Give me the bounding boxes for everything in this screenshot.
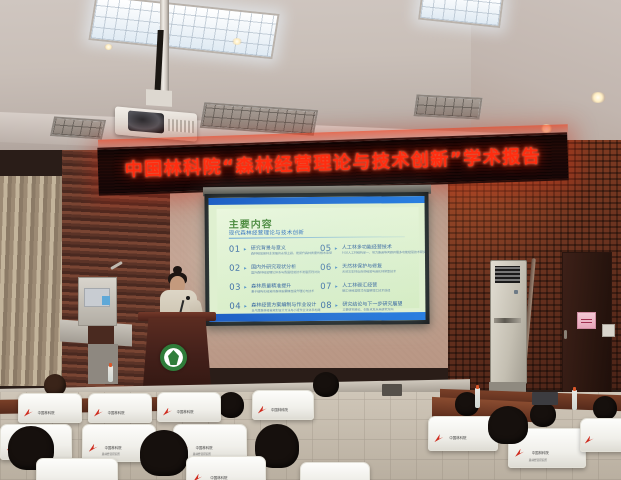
chair-cover-subtext: 森林经营研究所 xyxy=(529,458,547,462)
av-rack-label xyxy=(102,296,110,305)
slide-column-left: 01 ▸ 研究背景与意义 森林经营是林业发展的永恒主题，是提升森林质量的根本途径… xyxy=(229,244,325,321)
slide-item: 07 ▸ 人工林碳汇经营 碳汇林经营模式与固碳增汇技术途径 xyxy=(320,281,415,301)
water-bottle xyxy=(572,390,577,410)
chair-cover-text: 中国林科院 xyxy=(196,445,213,450)
chevron-right-icon: ▸ xyxy=(335,265,338,271)
chair-cover-text: 中国林科院 xyxy=(38,410,55,415)
projection-screen: 主要内容 现代森林经营理论与技术创新 01 ▸ 研究背景与意义 森林经营是林业发… xyxy=(204,192,429,326)
water-bottle xyxy=(475,388,480,408)
slide-item: 05 ▸ 人工林多功能经营技术 针对人工林结构单一、地力衰退等问题开展多功能经营… xyxy=(320,243,415,263)
chair-cover: 中国林科院 xyxy=(18,393,82,423)
laptop xyxy=(382,384,402,396)
av-cart-leg xyxy=(88,344,118,384)
chevron-right-icon: ▸ xyxy=(244,247,247,253)
projector-bracket xyxy=(146,89,172,107)
red-arrow-logo-icon xyxy=(585,436,594,444)
laptop xyxy=(532,392,558,405)
projector-lens xyxy=(128,110,164,133)
audience-head xyxy=(593,396,617,420)
downlight-icon xyxy=(590,92,606,103)
chair-cover-text: 中国林科院 xyxy=(532,450,549,455)
chair-cover: 中国林科院 xyxy=(252,390,314,420)
slide-item-number: 04 xyxy=(229,302,241,312)
slide-body: 主要内容 现代森林经营理论与技术创新 01 ▸ 研究背景与意义 森林经营是林业发… xyxy=(217,207,420,310)
projector-vent xyxy=(168,119,194,133)
led-banner-text: 中国林科院“森林经营理论与技术创新”学术报告 xyxy=(98,141,569,183)
red-arrow-logo-icon xyxy=(24,409,33,417)
chevron-right-icon: ▸ xyxy=(335,246,338,252)
slide-item-number: 03 xyxy=(229,283,241,293)
slide-item-number: 06 xyxy=(320,263,332,273)
red-arrow-logo-icon xyxy=(193,474,202,480)
downlight-icon xyxy=(232,38,242,45)
slide-item-description: 碳汇林经营模式与固碳增汇技术途径 xyxy=(342,288,425,293)
slide-item-number: 01 xyxy=(229,245,241,255)
chair-cover-subtext: 森林经营研究所 xyxy=(102,452,120,456)
chevron-right-icon: ▸ xyxy=(335,303,338,309)
chevron-right-icon: ▸ xyxy=(244,266,247,272)
red-arrow-logo-icon xyxy=(515,449,524,457)
ac-vent-grille xyxy=(495,266,520,283)
slide-item-number: 02 xyxy=(229,264,241,274)
chair-cover-text: 中国林科院 xyxy=(105,445,122,450)
red-arrow-logo-icon xyxy=(89,444,98,452)
chair-cover-text: 中国林科院 xyxy=(177,409,194,414)
slide-subtitle: 现代森林经营理论与技术创新 xyxy=(229,228,304,237)
audience-head xyxy=(313,372,339,397)
audience-head xyxy=(218,392,244,418)
red-arrow-logo-icon xyxy=(94,409,103,417)
slide-item: 01 ▸ 研究背景与意义 森林经营是林业发展的永恒主题，是提升森林质量的根本途径 xyxy=(229,244,324,264)
chair-cover: 中国林科院 xyxy=(157,392,221,422)
slide-top-bar xyxy=(208,196,424,205)
ac-control-strip xyxy=(494,318,521,323)
slide-item-number: 05 xyxy=(320,244,332,254)
slide-item: 02 ▸ 国内外研究现状分析 国外森林经营理论体系与我国经营技术发展历程对比 xyxy=(229,263,324,283)
chair-cover-text: 中国林科院 xyxy=(210,475,227,480)
chevron-right-icon: ▸ xyxy=(244,304,247,310)
red-arrow-logo-icon xyxy=(434,434,443,442)
audience-head xyxy=(530,402,556,427)
wall-switch[interactable] xyxy=(602,324,615,337)
slide-item-description: 针对人工林结构单一、地力衰退等问题开展多功能经营技术研究 xyxy=(342,250,426,255)
chair-cover-text: 中国林科院 xyxy=(271,407,288,412)
downlight-icon xyxy=(104,44,113,50)
slide-item: 06 ▸ 天然林保护与修复 天然次生林近自然经营与退化林修复技术 xyxy=(320,262,415,282)
water-bottle xyxy=(108,366,113,382)
slide-item-number: 07 xyxy=(320,282,332,292)
slide-item-description: 天然次生林近自然经营与退化林修复技术 xyxy=(342,269,425,274)
door-handle[interactable] xyxy=(564,330,567,339)
institute-emblem xyxy=(160,344,187,371)
chair-cover-text: 中国林科院 xyxy=(108,410,125,415)
chair-cover: 中国林科院 xyxy=(88,393,152,423)
chair-cover-text: 中国林科院 xyxy=(449,435,466,440)
microphone-icon xyxy=(186,296,190,300)
chevron-right-icon: ▸ xyxy=(335,284,338,290)
slide-content: 主要内容 现代森林经营理论与技术创新 01 ▸ 研究背景与意义 森林经营是林业发… xyxy=(208,196,425,322)
lecture-hall-photo: 中国林科院“森林经营理论与技术创新”学术报告 主要内容 现代森林经营理论与技术创… xyxy=(0,0,621,480)
slide-item: 03 ▸ 森林质量精准提升 基于结构化经营的森林质量精准提升理论与技术 xyxy=(229,282,324,302)
slide-column-right: 05 ▸ 人工林多功能经营技术 针对人工林结构单一、地力衰退等问题开展多功能经营… xyxy=(320,243,416,320)
audience-head xyxy=(488,406,528,444)
chevron-right-icon: ▸ xyxy=(244,285,247,291)
ceiling-light-panel xyxy=(50,116,106,139)
door-sign xyxy=(577,312,596,329)
chair-cover xyxy=(36,458,118,480)
chair-cover: 中国林科院 xyxy=(186,456,266,480)
ac-display-icon xyxy=(514,290,518,294)
ceiling-light-panel xyxy=(413,94,482,119)
chair-cover xyxy=(300,462,370,480)
slide-bottom-bar xyxy=(209,312,425,322)
slide-divider xyxy=(229,236,405,239)
red-arrow-logo-icon xyxy=(163,408,172,416)
slide-item-number: 08 xyxy=(320,301,332,311)
audience-head xyxy=(140,430,188,476)
red-arrow-logo-icon xyxy=(258,406,267,414)
chair-cover xyxy=(580,418,621,452)
slide-item-description: 主要研究结论、创新点及未来研究方向 xyxy=(342,307,425,312)
